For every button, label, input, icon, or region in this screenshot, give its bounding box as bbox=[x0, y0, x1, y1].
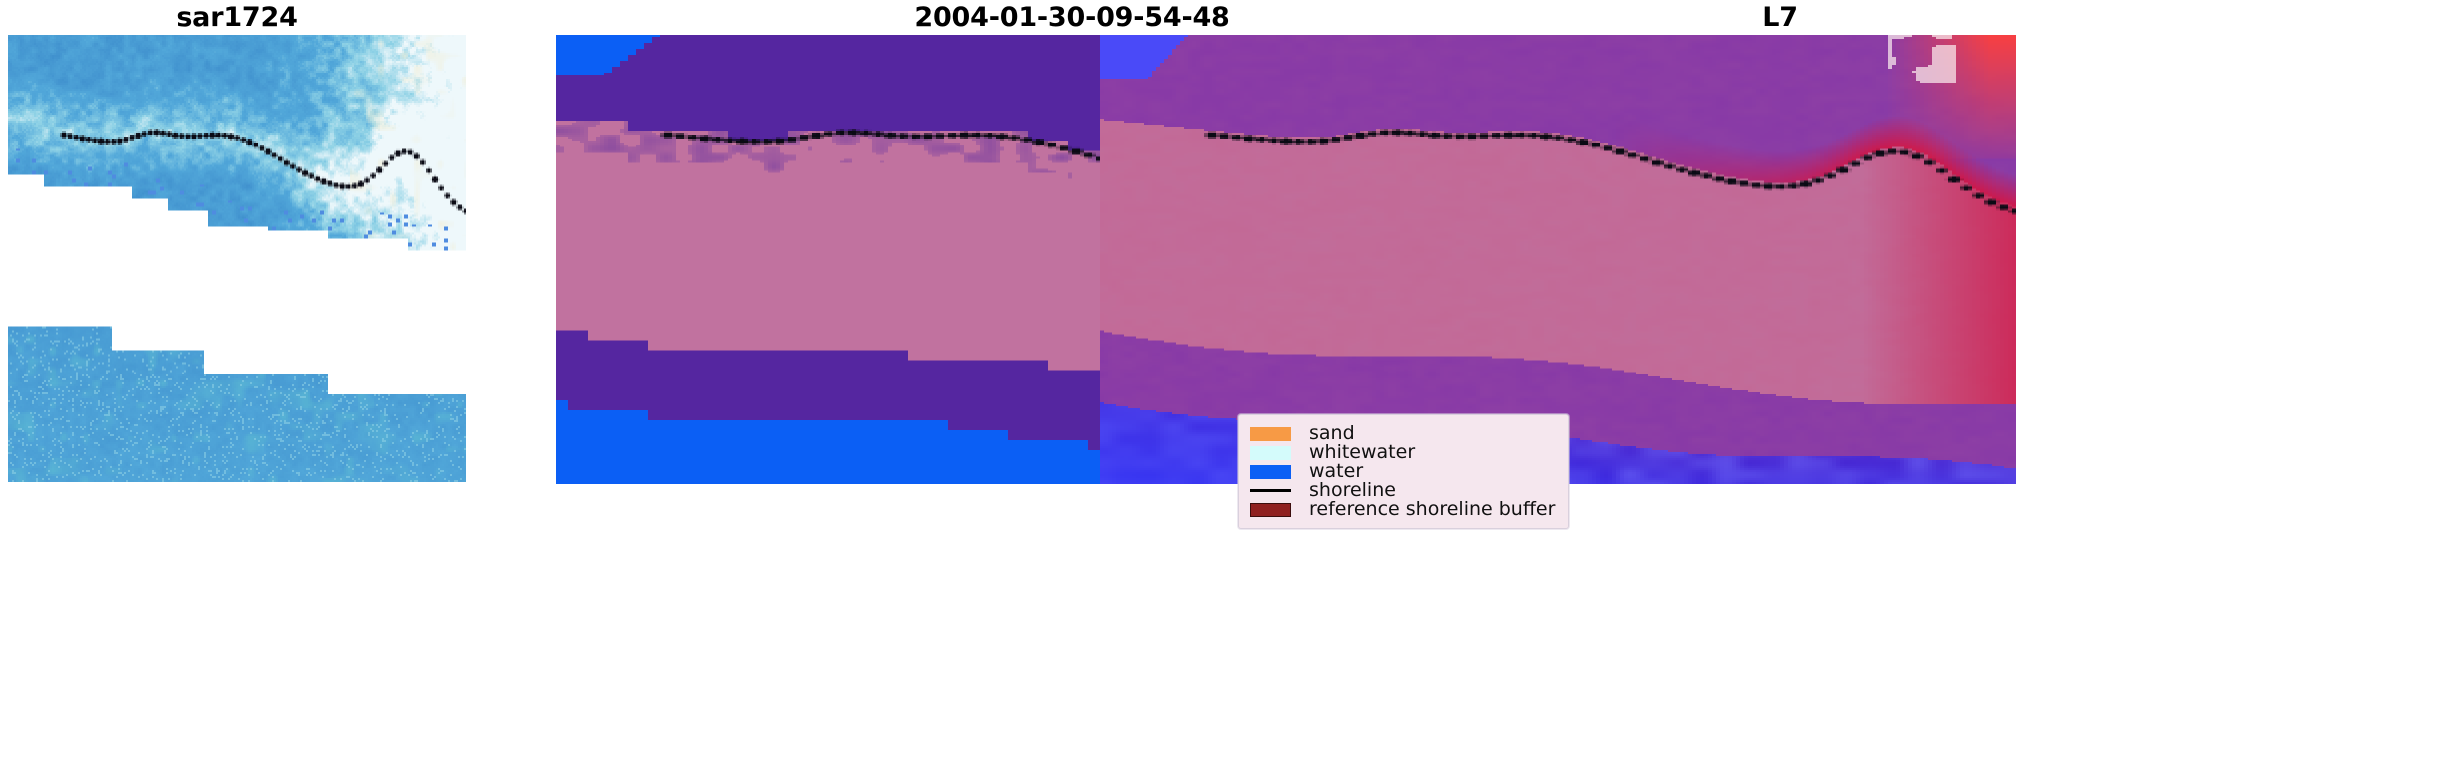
shoreline-line-swatch-icon bbox=[1250, 489, 1291, 492]
figure-canvas: sar1724 2004-01-30-09-54-48 L7 sand whit… bbox=[0, 0, 2460, 783]
legend-item-reference-buffer: reference shoreline buffer bbox=[1250, 500, 1555, 519]
panel-title-l7: L7 bbox=[1100, 2, 2460, 33]
sand-color-swatch-icon bbox=[1250, 427, 1291, 441]
whitewater-color-swatch-icon bbox=[1250, 446, 1291, 460]
legend-item-water: water bbox=[1250, 462, 1555, 481]
panel-sar1724: sar1724 bbox=[8, 0, 466, 783]
reference-buffer-color-swatch-icon bbox=[1250, 503, 1291, 517]
legend-label-reference-buffer: reference shoreline buffer bbox=[1309, 500, 1555, 519]
panel-title-sar1724: sar1724 bbox=[8, 2, 466, 33]
legend: sand whitewater water shoreline referenc… bbox=[1238, 414, 1569, 529]
water-color-swatch-icon bbox=[1250, 465, 1291, 479]
legend-item-whitewater: whitewater bbox=[1250, 443, 1555, 462]
panel-image-sar1724 bbox=[8, 31, 466, 486]
panel-l7: L7 bbox=[1100, 0, 2460, 783]
